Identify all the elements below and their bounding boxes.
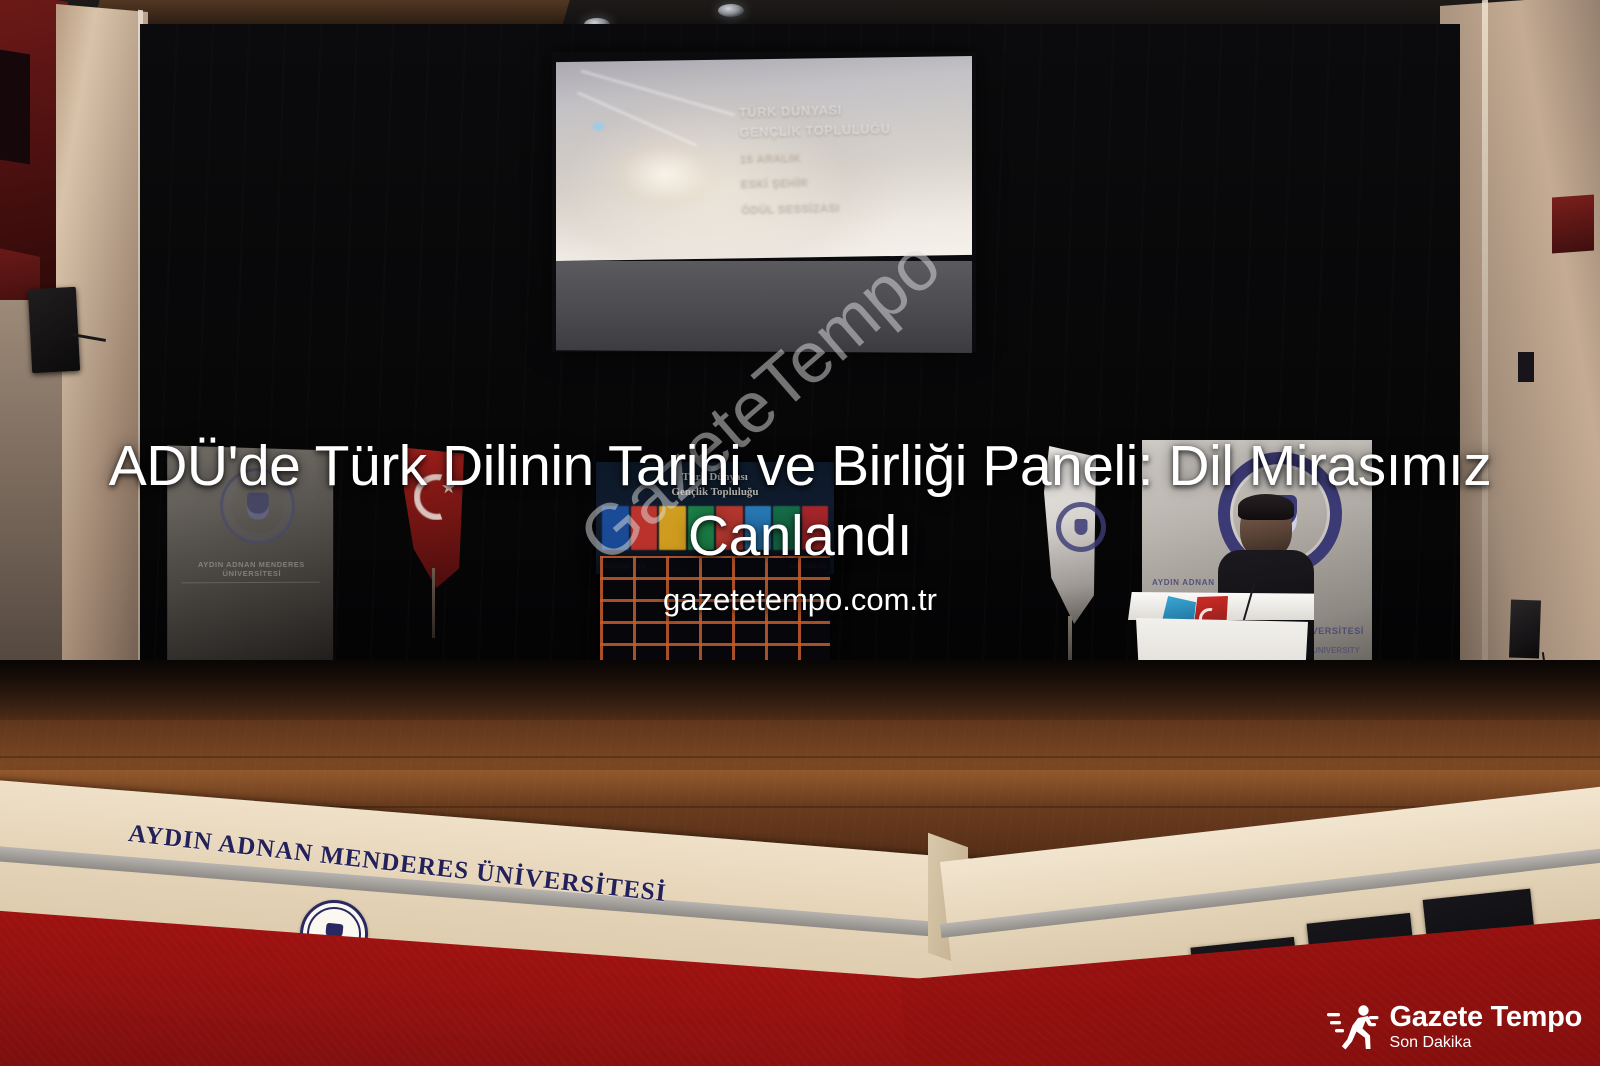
- flag-swatch: [716, 506, 743, 550]
- brand-logo[interactable]: Gazete Tempo Son Dakika: [1327, 1002, 1582, 1052]
- banner-right-text: AYDIN ADNAN: [1152, 578, 1215, 587]
- wall-plate: [1518, 352, 1534, 382]
- ceiling-wood-panel: [92, 0, 569, 26]
- flag-swatch: [602, 506, 629, 550]
- table-banner-line-2: Gençlik Topluluğu: [596, 485, 834, 500]
- turkish-flag: [404, 448, 468, 638]
- running-man-icon: [1327, 1002, 1379, 1052]
- left-wall-recess: [0, 50, 30, 165]
- member-flags-row: [602, 506, 828, 550]
- left-beige-wall: [56, 4, 148, 772]
- flag-pole: [432, 568, 435, 638]
- projection-highlight-dot: [593, 122, 604, 131]
- downlight-icon: [718, 4, 744, 17]
- right-red-wall-panel: [1552, 195, 1594, 254]
- projection-line-3: 15 ARALIK: [740, 146, 970, 167]
- flag-swatch: [773, 506, 800, 550]
- wall-speaker-right: [1509, 599, 1541, 658]
- brand-tagline: Son Dakika: [1390, 1035, 1582, 1051]
- table-banner-title: Türk Dünyası Gençlik Topluluğu: [596, 470, 834, 500]
- flag-swatch: [745, 506, 772, 550]
- projection-screen-lower: [556, 261, 972, 353]
- news-photo-card: TÜRK DÜNYASI GENÇLİK TOPLULUĞU 15 ARALIK…: [0, 0, 1600, 1066]
- stage-floor-shadow: [0, 660, 1600, 720]
- university-seal-icon: [220, 467, 295, 544]
- university-flag: [1044, 446, 1098, 682]
- flag-swatch: [631, 506, 658, 550]
- photo-scene: TÜRK DÜNYASI GENÇLİK TOPLULUĞU 15 ARALIK…: [0, 0, 1600, 1066]
- brand-logo-text: Gazete Tempo Son Dakika: [1390, 1003, 1582, 1051]
- projection-screen-text: TÜRK DÜNYASI GENÇLİK TOPLULUĞU 15 ARALIK…: [739, 97, 972, 218]
- wall-speaker-left: [28, 287, 80, 373]
- banner-right-text-3: UNIVERSITY: [1312, 646, 1360, 655]
- banner-left-text: AYDIN ADNAN MENDERES ÜNİVERSİTESİ: [167, 560, 333, 578]
- display-crate-stand: [600, 556, 830, 668]
- table-banner-line-1: Türk Dünyası: [596, 470, 834, 485]
- projection-artwork: [575, 100, 755, 235]
- university-seal-icon: [1056, 502, 1106, 552]
- projection-line-4: ESKİ ŞEHİR: [740, 171, 970, 192]
- flag-swatch: [659, 506, 686, 550]
- floor-seam: [0, 756, 1600, 758]
- flag-swatch: [688, 506, 715, 550]
- flag-swatch: [802, 506, 829, 550]
- banner-left-rule: [182, 582, 320, 584]
- brand-name: Gazete Tempo: [1390, 1003, 1582, 1032]
- banner-left-university: AYDIN ADNAN MENDERES ÜNİVERSİTESİ: [167, 445, 333, 682]
- person-hair: [1238, 494, 1294, 520]
